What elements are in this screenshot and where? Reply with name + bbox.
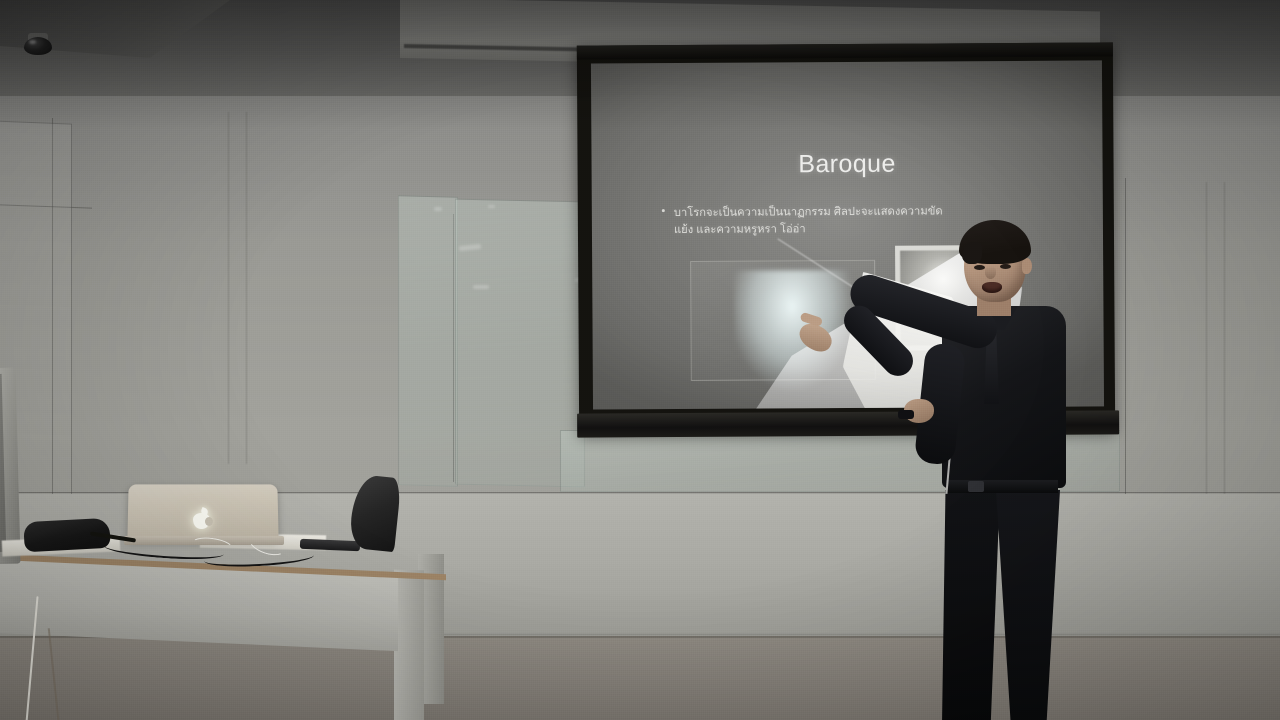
presenter-belt	[946, 480, 1058, 493]
floor-cable	[48, 628, 62, 720]
glass-highlight	[434, 207, 442, 211]
presenter-forearm	[838, 299, 919, 382]
glass-highlight	[488, 205, 495, 208]
apple-logo-bite	[205, 517, 213, 526]
desk	[0, 536, 454, 720]
wall-seam	[228, 112, 229, 464]
bullet-dot-icon	[662, 209, 665, 212]
security-camera-icon	[24, 33, 54, 55]
presenter-nose	[985, 266, 996, 279]
slide-title: Baroque	[591, 148, 1102, 180]
presenter-belt-buckle	[968, 481, 984, 492]
glass-highlight	[473, 285, 489, 289]
presenter-remote-icon	[898, 410, 914, 419]
presenter-leg-left	[942, 490, 1000, 720]
camera-dome	[24, 37, 52, 55]
desk-leg	[394, 570, 424, 720]
monitor-screen	[0, 374, 6, 553]
camera-glint	[29, 40, 36, 44]
presenter-mouth	[982, 282, 1002, 293]
glass-panel	[398, 195, 458, 487]
presenter-ear	[1022, 258, 1032, 274]
classroom-photo-scene: Baroque บาโรกจะเป็นความเป็นนาฏกรรม ศิลปะ…	[0, 0, 1280, 720]
presenter-hair	[959, 220, 1031, 264]
apple-logo-icon	[192, 508, 211, 530]
presenter-eye	[974, 265, 985, 270]
presenter-person	[846, 214, 1146, 720]
wall-seam	[246, 112, 247, 464]
presenter-eye	[1000, 264, 1011, 269]
presenter-leg-right	[996, 490, 1060, 720]
